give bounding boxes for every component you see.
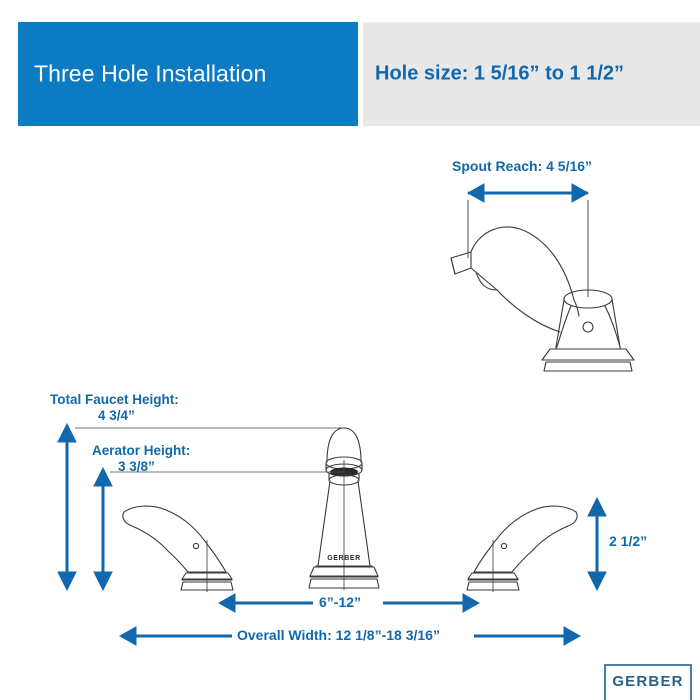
total-faucet-height-value: 4 3/4”: [98, 408, 135, 425]
overall-width-label: Overall Width: 12 1/8”-18 3/16”: [237, 627, 440, 645]
aerator-height-value: 3 3/8”: [118, 459, 155, 476]
faucet-brand-mark: GERBER: [327, 555, 361, 562]
hole-size-label: Hole size: 1 5/16” to 1 1/2”: [363, 63, 700, 86]
header-title-band: Three Hole Installation: [18, 22, 358, 126]
page-title: Three Hole Installation: [18, 61, 358, 88]
spread-label: 6”-12”: [319, 594, 361, 612]
aerator-height-label: Aerator Height:: [92, 443, 190, 460]
faucet-spec-diagram: Three Hole Installation Hole size: 1 5/1…: [0, 0, 700, 700]
spout-reach-label: Spout Reach: 4 5/16”: [452, 158, 592, 176]
gerber-logo: GERBER: [604, 664, 692, 700]
total-faucet-height-label: Total Faucet Height:: [50, 392, 179, 409]
header-holesize-band: Hole size: 1 5/16” to 1 1/2”: [363, 22, 700, 126]
handle-height-label: 2 1/2”: [609, 533, 647, 551]
gerber-logo-text: GERBER: [606, 673, 690, 690]
